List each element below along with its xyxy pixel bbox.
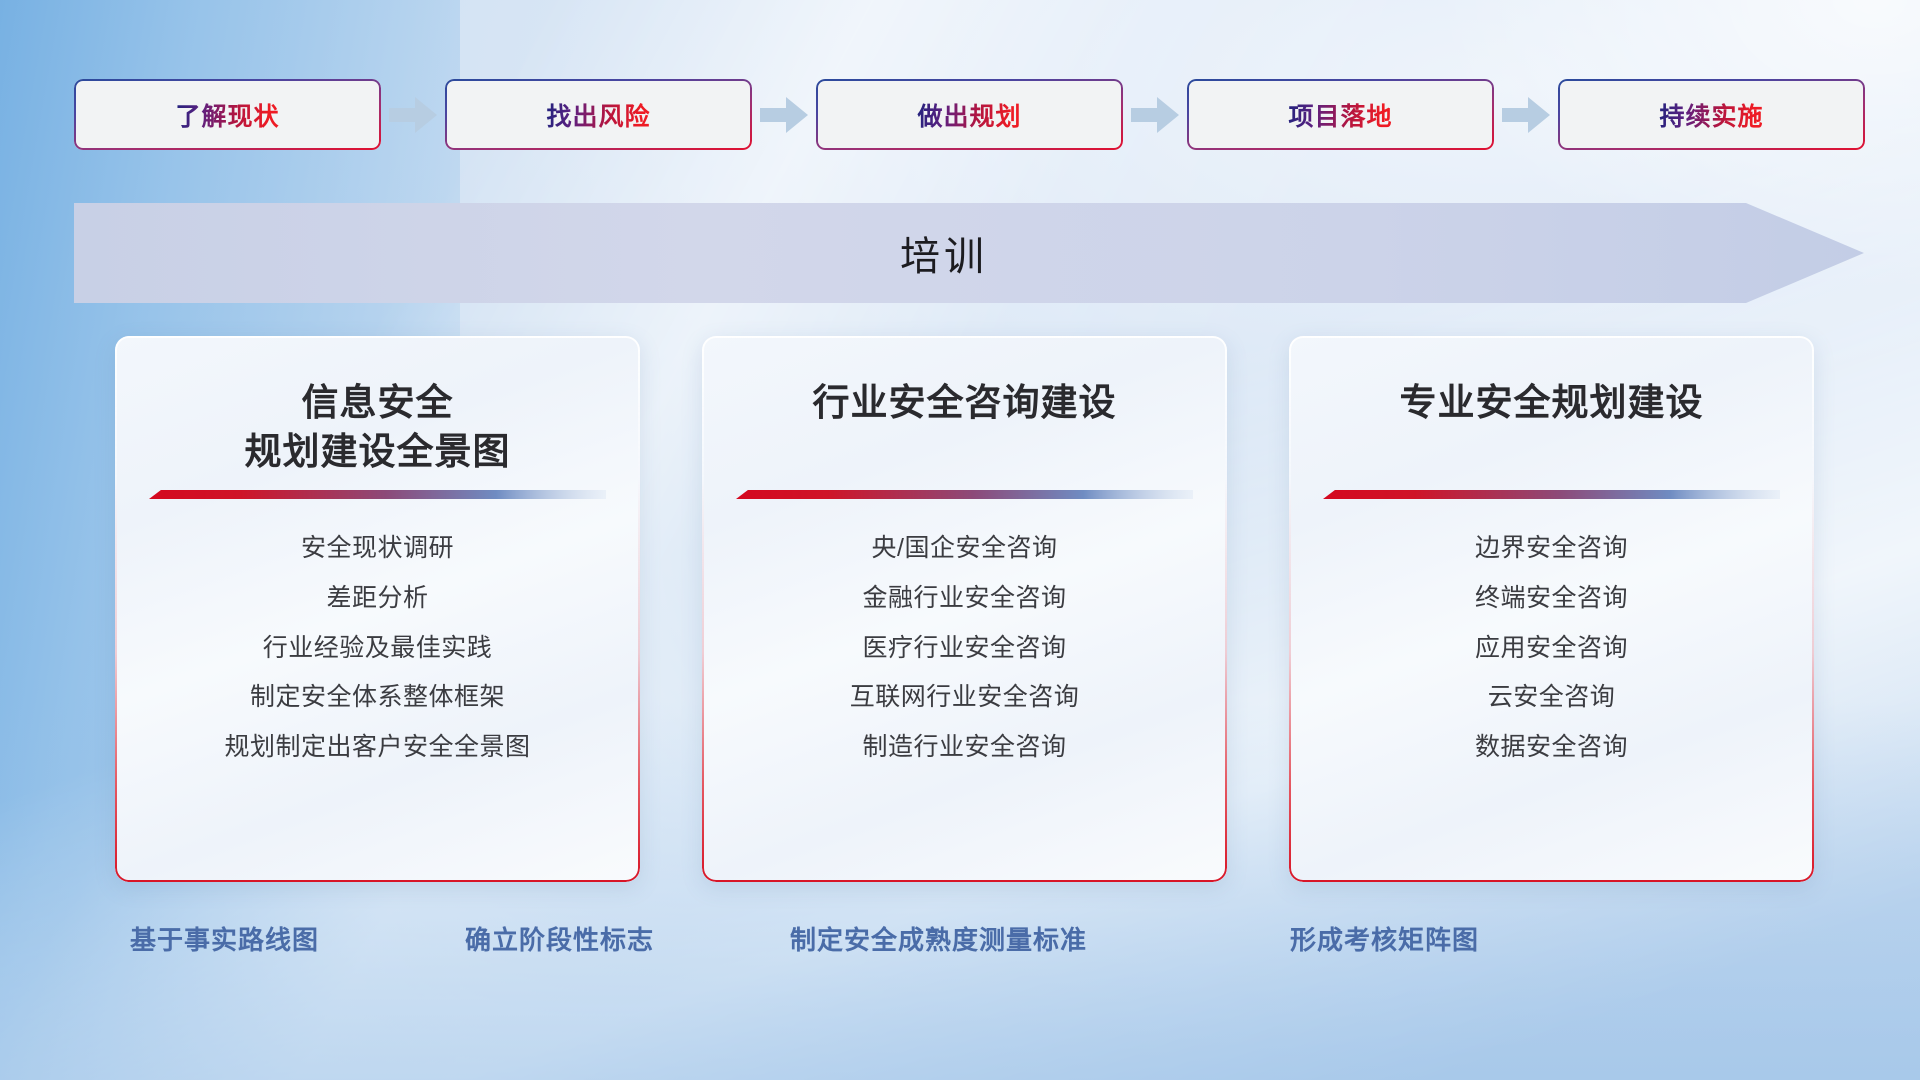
right-arrow-icon — [752, 79, 816, 150]
process-step-4-label: 持续实施 — [1659, 97, 1763, 133]
card-1-divider — [736, 490, 1193, 502]
card-2-list: 边界安全咨询 终端安全咨询 应用安全咨询 云安全咨询 数据安全咨询 — [1323, 532, 1780, 765]
card-0-title: 信息安全 规划建设全景图 — [149, 378, 606, 478]
training-label: 培训 — [74, 203, 1814, 303]
process-step-4[interactable]: 持续实施 — [1558, 79, 1865, 150]
process-step-row: 了解现状 找出风险 做出规划 项目落地 持续实施 — [74, 79, 1864, 150]
process-step-1[interactable]: 找出风险 — [445, 79, 752, 150]
process-step-3[interactable]: 项目落地 — [1187, 79, 1494, 150]
process-step-2[interactable]: 做出规划 — [816, 79, 1123, 150]
card-row: 信息安全 规划建设全景图 — [115, 336, 1815, 882]
process-step-1-label: 找出风险 — [546, 97, 650, 133]
caption-1: 确立阶段性标志 — [465, 920, 654, 957]
list-item: 应用安全咨询 — [1475, 632, 1628, 666]
list-item: 制造行业安全咨询 — [862, 731, 1066, 765]
card-2-divider — [1323, 490, 1780, 502]
list-item: 终端安全咨询 — [1475, 582, 1628, 616]
training-banner: 培训 — [74, 203, 1864, 303]
caption-0: 基于事实路线图 — [130, 920, 319, 957]
list-item: 差距分析 — [326, 582, 428, 616]
list-item: 央/国企安全咨询 — [872, 532, 1058, 566]
caption-row: 基于事实路线图 确立阶段性标志 制定安全成熟度测量标准 形成考核矩阵图 — [0, 920, 1920, 974]
card-1-title: 行业安全咨询建设 — [736, 378, 1193, 478]
list-item: 规划制定出客户安全全景图 — [224, 731, 530, 765]
card-1-list: 央/国企安全咨询 金融行业安全咨询 医疗行业安全咨询 互联网行业安全咨询 制造行… — [736, 532, 1193, 765]
card-0-divider — [149, 490, 606, 502]
list-item: 金融行业安全咨询 — [862, 582, 1066, 616]
list-item: 制定安全体系整体框架 — [250, 681, 505, 715]
process-step-3-label: 项目落地 — [1288, 97, 1392, 133]
right-arrow-icon — [1123, 79, 1187, 150]
card-0-title-line2: 规划建设全景图 — [149, 427, 606, 476]
card-0-title-line1: 信息安全 — [302, 382, 454, 423]
right-arrow-icon — [381, 79, 445, 150]
card-2-title-line1: 专业安全规划建设 — [1400, 382, 1704, 423]
list-item: 行业经验及最佳实践 — [263, 632, 493, 666]
process-step-2-label: 做出规划 — [917, 97, 1021, 133]
list-item: 医疗行业安全咨询 — [862, 632, 1066, 666]
card-1[interactable]: 行业安全咨询建设 — [702, 336, 1227, 882]
card-0[interactable]: 信息安全 规划建设全景图 — [115, 336, 640, 882]
list-item: 数据安全咨询 — [1475, 731, 1628, 765]
card-2[interactable]: 专业安全规划建设 — [1289, 336, 1814, 882]
list-item: 互联网行业安全咨询 — [850, 681, 1080, 715]
card-1-title-line1: 行业安全咨询建设 — [813, 382, 1117, 423]
caption-2: 制定安全成熟度测量标准 — [790, 920, 1087, 957]
list-item: 云安全咨询 — [1488, 681, 1616, 715]
process-step-0[interactable]: 了解现状 — [74, 79, 381, 150]
process-step-0-label: 了解现状 — [175, 97, 279, 133]
list-item: 边界安全咨询 — [1475, 532, 1628, 566]
caption-3: 形成考核矩阵图 — [1290, 920, 1479, 957]
card-0-list: 安全现状调研 差距分析 行业经验及最佳实践 制定安全体系整体框架 规划制定出客户… — [149, 532, 606, 765]
list-item: 安全现状调研 — [301, 532, 454, 566]
right-arrow-icon — [1494, 79, 1558, 150]
card-2-title: 专业安全规划建设 — [1323, 378, 1780, 478]
